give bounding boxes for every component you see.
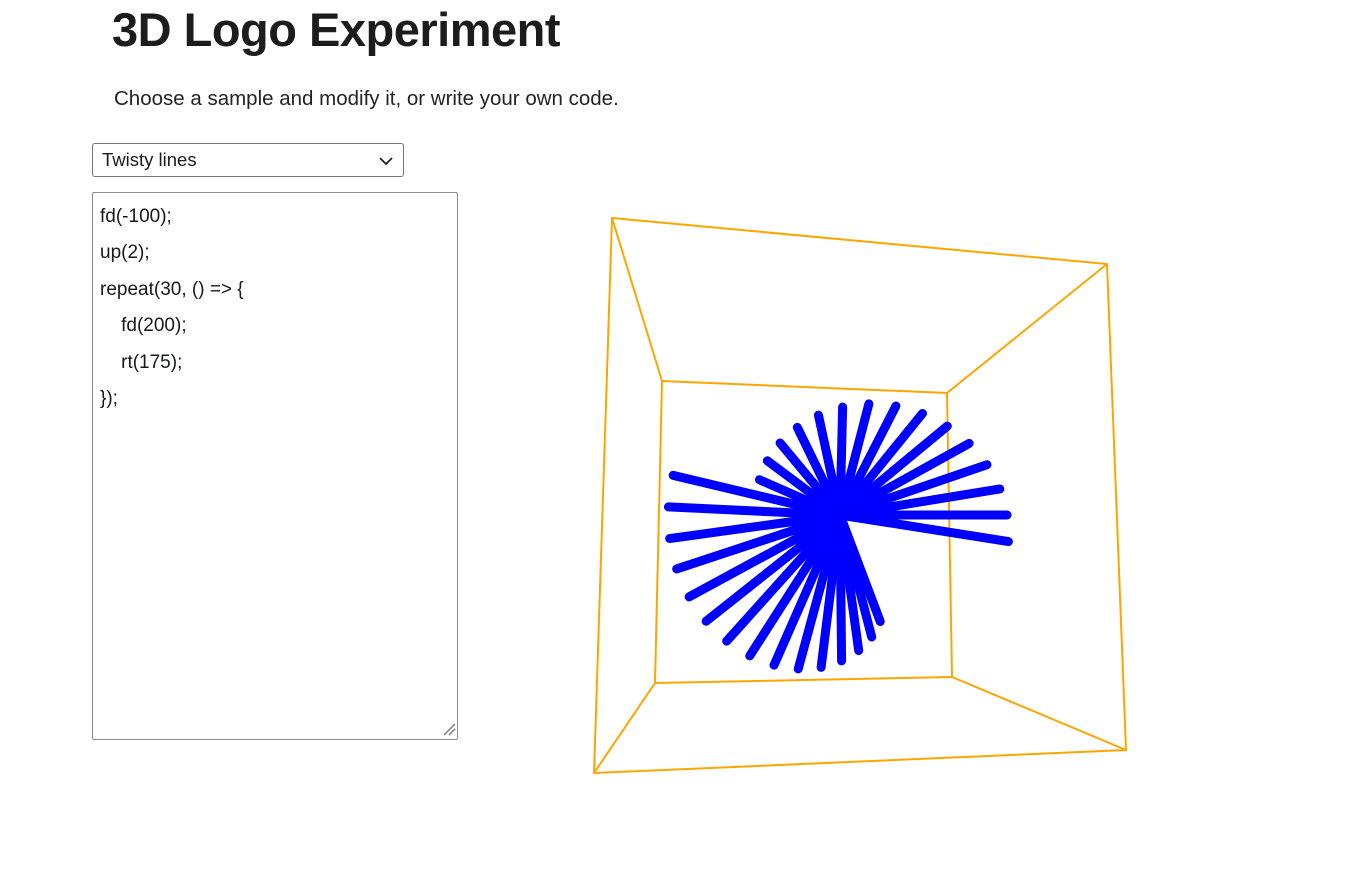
box-edge <box>594 683 655 773</box>
box-edge <box>612 218 662 381</box>
page-title: 3D Logo Experiment <box>112 4 560 57</box>
page-subtitle: Choose a sample and modify it, or write … <box>114 87 619 111</box>
scene-svg <box>520 180 1220 820</box>
box-edge <box>952 677 1126 750</box>
logo-3d-canvas[interactable] <box>520 180 1220 820</box>
box-edge <box>947 264 1107 393</box>
turtle-path <box>668 404 1008 669</box>
sample-selector[interactable]: Twisty lines <box>92 143 404 177</box>
code-input[interactable]: fd(-100); up(2); repeat(30, () => { fd(2… <box>92 192 458 740</box>
